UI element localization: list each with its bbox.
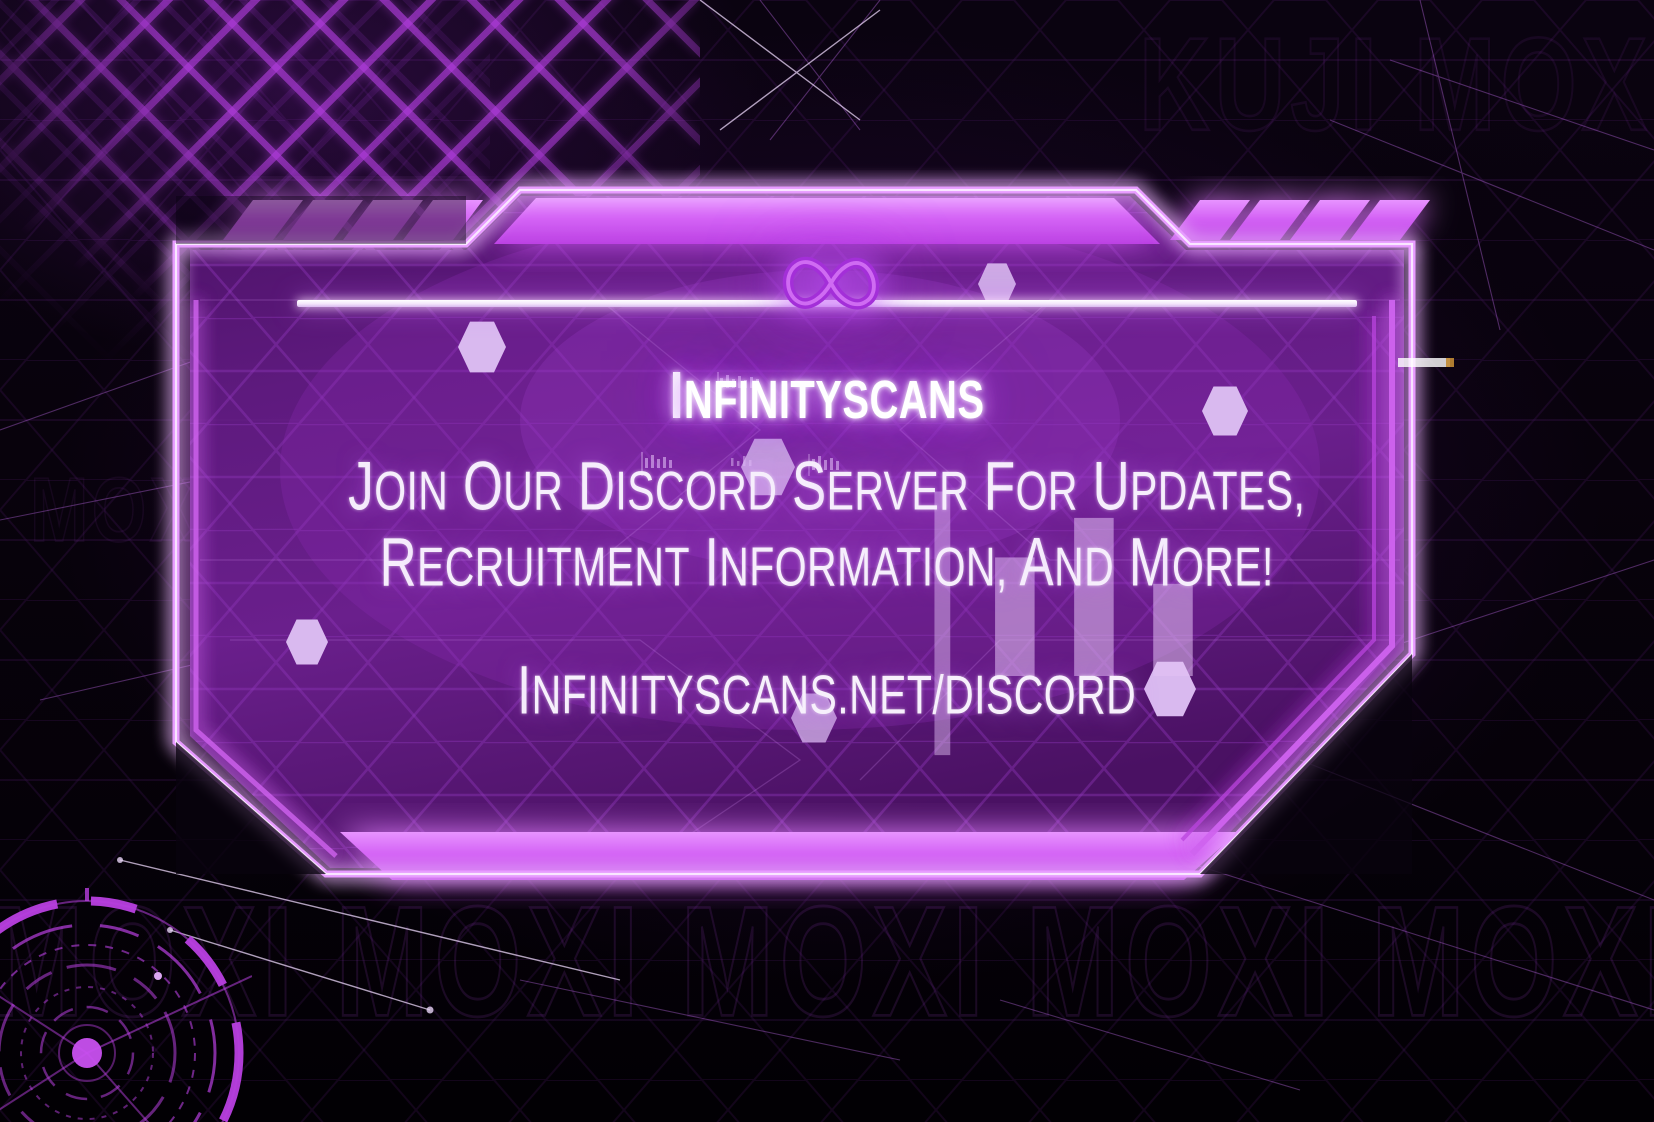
discord-url[interactable]: INFINITYSCANS.NET/DISCORD [517,650,1136,728]
frame-top-bar [494,198,1160,244]
headline: JOIN OUR DISCORD SERVER FOR UPDATES, REC… [348,448,1305,601]
page-title: INFINITYSCANS [670,357,985,434]
banner-canvas: KUJI MOXI MOXI MOXI MOXI MOXI MOXI MOXI … [0,0,1654,1122]
divider-row [297,250,1357,316]
headline-line-1: JOIN OUR DISCORD SERVER FOR UPDATES, [348,448,1305,525]
banner-content: INFINITYSCANS JOIN OUR DISCORD SERVER FO… [0,250,1654,725]
infinity-icon [772,246,890,320]
frame-hash-bars-right [1170,200,1430,240]
headline-line-2: RECRUITMENT INFORMATION, AND MORE! [348,524,1305,601]
